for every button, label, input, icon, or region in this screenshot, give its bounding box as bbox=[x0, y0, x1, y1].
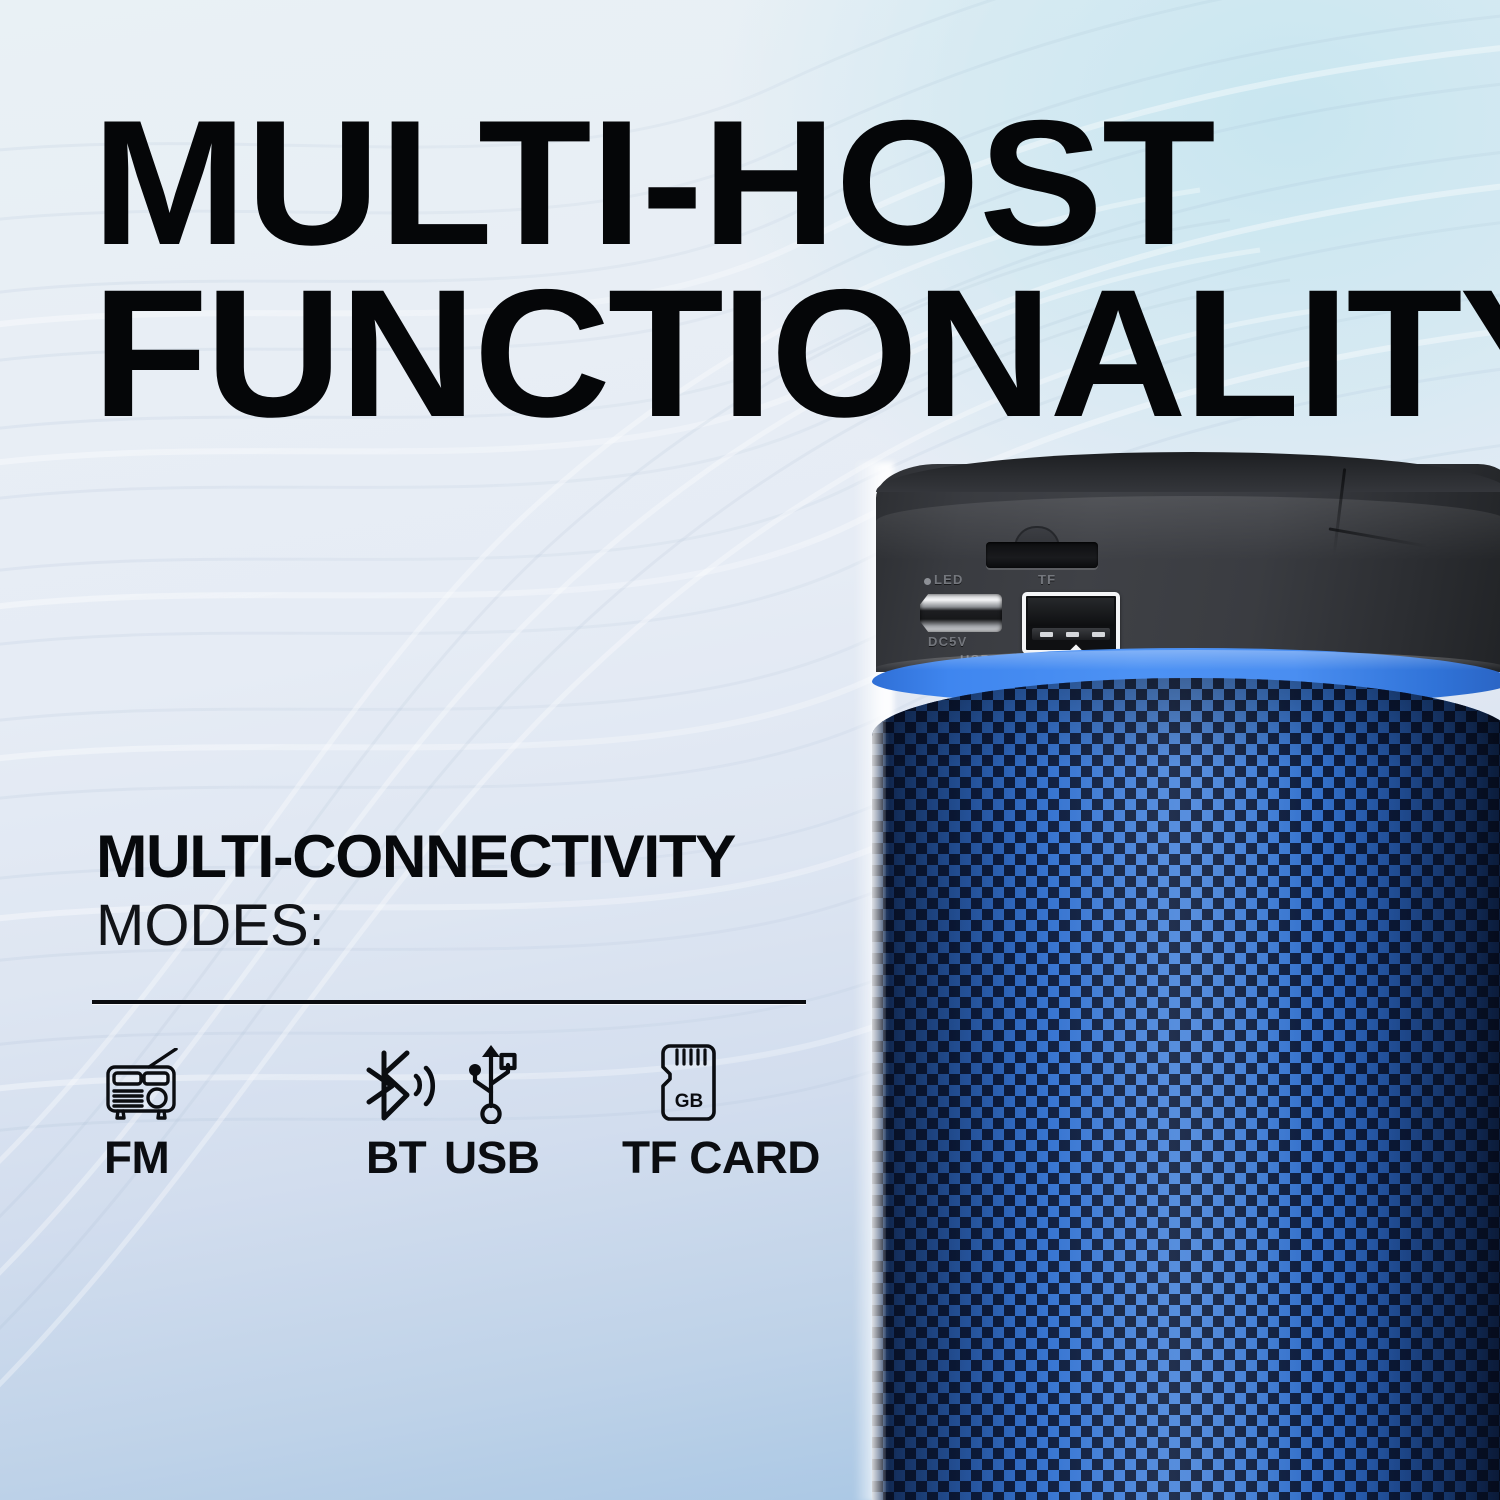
connectivity-item-usb: USB bbox=[452, 1042, 632, 1184]
usb-pin bbox=[1040, 632, 1053, 637]
page-title: MULTI-HOSTFUNCTIONALITY bbox=[92, 98, 1482, 440]
grille-left-highlight bbox=[872, 678, 886, 1500]
sd-card-gb-text: GB bbox=[675, 1091, 704, 1112]
tf-card-slot bbox=[986, 542, 1098, 568]
grille-cylindrical-shading bbox=[872, 678, 1500, 1500]
radio-icon bbox=[92, 1042, 194, 1124]
micro-usb-charging-port bbox=[920, 594, 1002, 632]
port-label-tf: TF bbox=[1038, 572, 1056, 587]
grille-top-shadow bbox=[872, 678, 1500, 768]
connectivity-icon-row: FM BT bbox=[92, 1042, 832, 1192]
modes-title-light: MODES: bbox=[96, 895, 816, 956]
bluetooth-icon bbox=[272, 1042, 436, 1124]
speaker-port-panel: TF LED DC5V USB bbox=[876, 464, 1500, 672]
connectivity-item-tf-card: GB TF CARD bbox=[632, 1042, 812, 1184]
poster-canvas: MULTI-HOSTFUNCTIONALITY MULTI-CONNECTIVI… bbox=[0, 0, 1500, 1500]
usb-pin bbox=[1092, 632, 1105, 637]
usb-a-port bbox=[1022, 592, 1120, 654]
sd-card-icon: GB bbox=[632, 1042, 724, 1124]
modes-title-bold: MULTI-CONNECTIVITY bbox=[96, 826, 838, 887]
headline-line-2: FUNCTIONALITY bbox=[92, 267, 1482, 440]
connectivity-label-fm: FM bbox=[104, 1132, 169, 1184]
port-label-led: LED bbox=[934, 572, 964, 587]
connectivity-item-bt: BT bbox=[272, 1042, 452, 1184]
port-label-dc5v: DC5V bbox=[928, 634, 967, 649]
product-image-bluetooth-speaker: TF LED DC5V USB bbox=[868, 452, 1500, 1500]
connectivity-label-bt: BT bbox=[366, 1132, 426, 1184]
connectivity-item-fm: FM bbox=[92, 1042, 272, 1184]
led-indicator-dot bbox=[924, 578, 931, 585]
speaker-mesh-grille bbox=[872, 678, 1500, 1500]
divider bbox=[92, 1000, 806, 1004]
usb-pin bbox=[1066, 632, 1079, 637]
connectivity-label-tf-card: TF CARD bbox=[622, 1132, 820, 1184]
connectivity-label-usb: USB bbox=[444, 1132, 539, 1184]
modes-heading-block: MULTI-CONNECTIVITY MODES: bbox=[96, 826, 816, 957]
usb-port-cavity bbox=[1028, 598, 1114, 626]
usb-icon bbox=[452, 1042, 522, 1124]
